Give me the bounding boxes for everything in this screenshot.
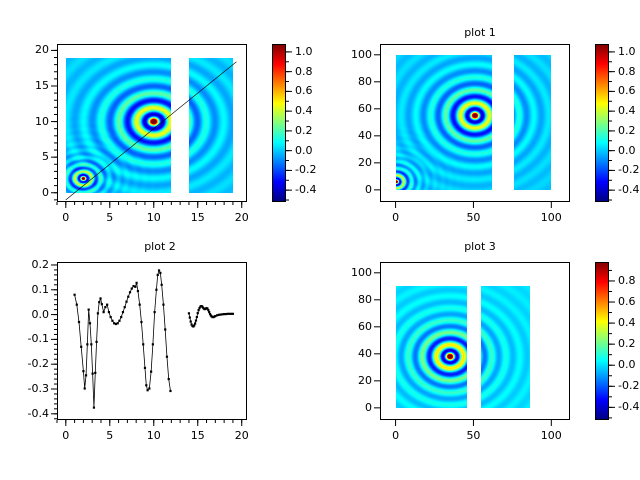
colorbar-ticks-bottom-right — [0, 0, 640, 480]
figure-canvas: plot 1 plot 2 plot 3 05101520051015201.0… — [0, 0, 640, 480]
